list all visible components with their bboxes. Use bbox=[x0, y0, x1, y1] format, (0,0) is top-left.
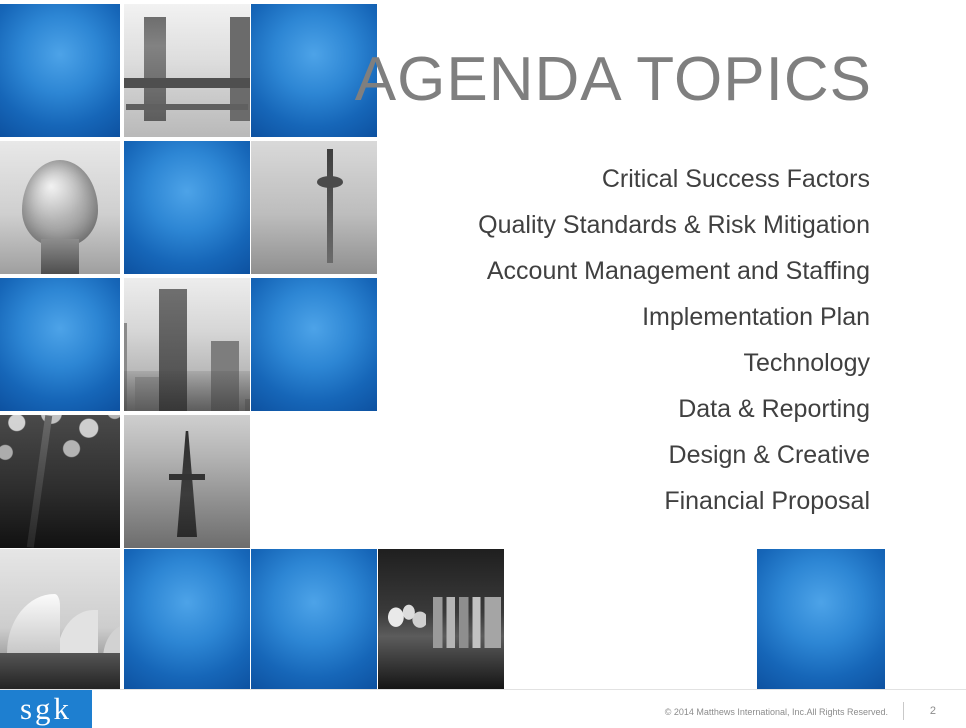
tile-photo-bridge bbox=[124, 4, 250, 137]
tile-photo-vase bbox=[0, 141, 120, 274]
tile-blue-r2c2 bbox=[124, 141, 250, 274]
tile-photo-marina bbox=[378, 549, 504, 690]
sgk-logo: sgk bbox=[0, 690, 92, 728]
agenda-topic-item: Data & Reporting bbox=[310, 386, 870, 432]
agenda-topic-item: Financial Proposal bbox=[310, 478, 870, 524]
marina-bay-image bbox=[378, 549, 504, 690]
tile-blue-r5c6 bbox=[757, 549, 885, 690]
tile-photo-chicago bbox=[124, 278, 250, 411]
sydney-opera-house-image bbox=[0, 549, 120, 690]
agenda-topic-item: Implementation Plan bbox=[310, 294, 870, 340]
slide-footer: sgk © 2014 Matthews International, Inc.A… bbox=[0, 689, 966, 728]
tile-photo-eiffel bbox=[124, 415, 250, 548]
cherry-blossom-image bbox=[0, 415, 120, 548]
tile-photo-sydney bbox=[0, 549, 120, 690]
agenda-topic-item: Critical Success Factors bbox=[310, 156, 870, 202]
agenda-topic-item: Design & Creative bbox=[310, 432, 870, 478]
tile-blue-r5c2 bbox=[124, 549, 250, 690]
eiffel-tower-image bbox=[124, 415, 250, 548]
agenda-topic-item: Quality Standards & Risk Mitigation bbox=[310, 202, 870, 248]
tile-blue-r5c3 bbox=[251, 549, 377, 690]
tower-bridge-image bbox=[124, 4, 250, 137]
tile-photo-blossom bbox=[0, 415, 120, 548]
page-title: AGENDA TOPICS bbox=[355, 44, 872, 115]
page-number: 2 bbox=[930, 705, 936, 717]
agenda-topic-item: Account Management and Staffing bbox=[310, 248, 870, 294]
tile-blue-r3c1 bbox=[0, 278, 120, 411]
slide-canvas: AGENDA TOPICS Critical Success Factors Q… bbox=[0, 0, 966, 728]
copyright-text: © 2014 Matthews International, Inc.All R… bbox=[665, 707, 888, 717]
footer-divider bbox=[903, 702, 904, 720]
agenda-topics-list: Critical Success Factors Quality Standar… bbox=[310, 156, 870, 524]
chicago-skyline-image bbox=[124, 278, 250, 411]
agenda-topic-item: Technology bbox=[310, 340, 870, 386]
ornamental-vase-image bbox=[0, 141, 120, 274]
tile-blue-r1c1 bbox=[0, 4, 120, 137]
